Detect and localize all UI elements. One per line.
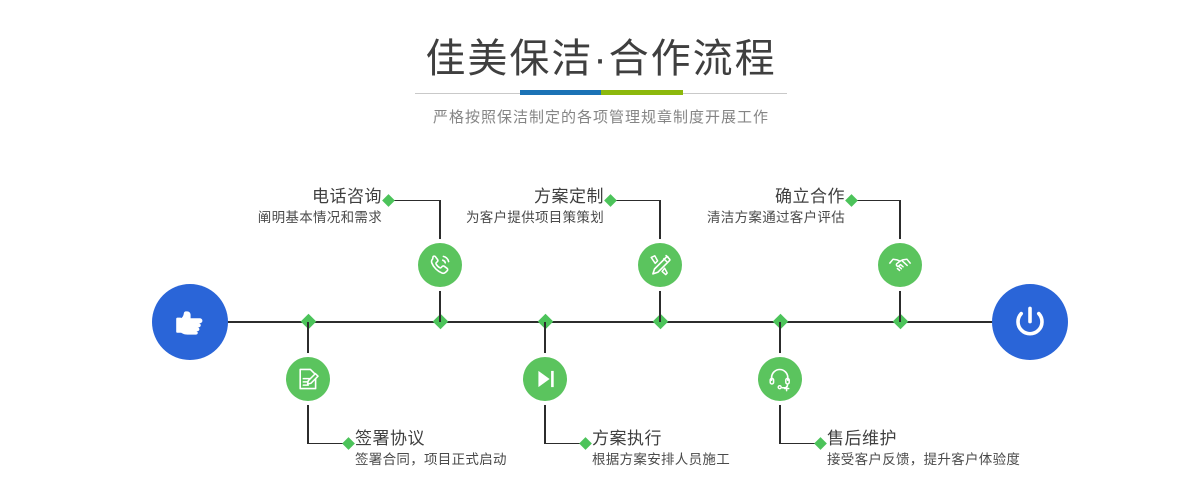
pointing-hand-icon (170, 302, 210, 342)
page-title: 佳美保洁·合作流程 (0, 36, 1202, 82)
page-subtitle: 严格按照保洁制定的各项管理规章制度开展工作 (0, 107, 1202, 129)
step-icon-5[interactable] (878, 243, 922, 287)
step-title-5: 确立合作 (580, 186, 845, 208)
leader-tick-step-5 (845, 194, 858, 207)
step-desc-3: 为客户提供项目策策划 (340, 208, 604, 228)
step-desc-5: 清洁方案通过客户评估 (580, 208, 845, 228)
step-label-6: 售后维护 接受客户反馈，提升客户体验度 (827, 428, 1157, 470)
step-label-3: 方案定制 为客户提供项目策策划 (340, 186, 604, 228)
step-title-3: 方案定制 (340, 186, 604, 208)
headset-support-icon (767, 366, 793, 392)
document-sign-icon (295, 366, 321, 392)
title-divider-blue-segment (520, 90, 601, 95)
pencil-ruler-icon (647, 252, 673, 278)
handshake-icon (887, 252, 913, 278)
process-flow-diagram: 佳美保洁·合作流程 严格按照保洁制定的各项管理规章制度开展工作 (0, 0, 1202, 502)
play-execute-icon (532, 366, 558, 392)
phone-call-icon (427, 252, 453, 278)
timeline-end-endpoint (992, 284, 1068, 360)
step-icon-2[interactable] (286, 357, 330, 401)
step-label-5: 确立合作 清洁方案通过客户评估 (580, 186, 845, 228)
leader-step-5 (855, 200, 900, 201)
leader-tick-step-2 (342, 437, 355, 450)
step-icon-4[interactable] (523, 357, 567, 401)
step-icon-6[interactable] (758, 357, 802, 401)
step-title-6: 售后维护 (827, 428, 1157, 450)
power-icon (1008, 300, 1052, 344)
step-icon-1[interactable] (418, 243, 462, 287)
step-desc-6: 接受客户反馈，提升客户体验度 (827, 450, 1157, 470)
step-icon-3[interactable] (638, 243, 682, 287)
title-divider-green-segment (601, 90, 683, 95)
timeline-start-endpoint (152, 284, 228, 360)
